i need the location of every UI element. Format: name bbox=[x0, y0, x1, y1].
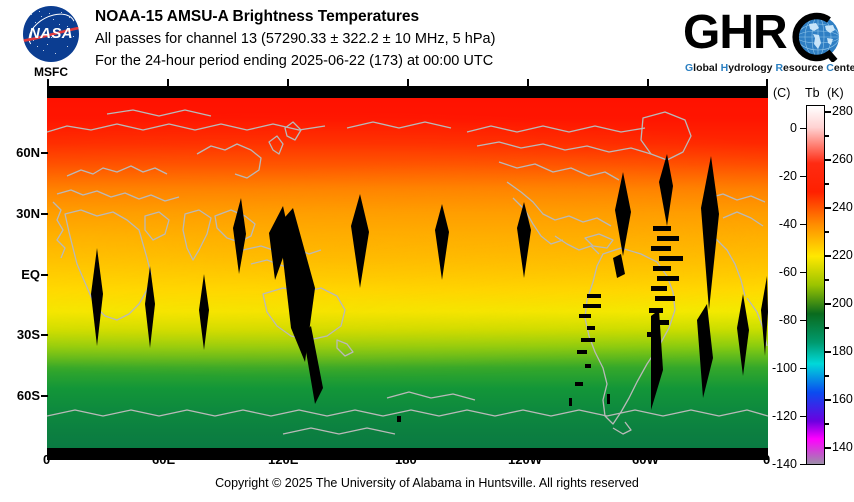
page-header: NASA MSFC NOAA-15 AMSU-A Brightness Temp… bbox=[0, 0, 854, 86]
colorbar-tick-c--20 bbox=[800, 176, 806, 178]
colorbar-label-c--20: -20 bbox=[779, 169, 797, 183]
colorbar-tick-c--80 bbox=[800, 320, 806, 322]
colorbar-minor-tick bbox=[825, 375, 829, 377]
colorbar-gradient[interactable] bbox=[806, 105, 825, 465]
colorbar-minor-tick bbox=[825, 327, 829, 329]
lon-label-180: 180 bbox=[395, 452, 417, 467]
lon-label-0: 0 bbox=[43, 452, 50, 467]
colorbar-label-c-0: 0 bbox=[790, 121, 797, 135]
colorbar-tick-c--140 bbox=[800, 464, 806, 466]
lon-tick-360 bbox=[766, 79, 768, 86]
lat-tick-eq bbox=[41, 274, 48, 276]
colorbar-label-tb: Tb bbox=[805, 86, 820, 100]
lat-label-30n: 30N bbox=[0, 206, 40, 221]
copyright-notice: Copyright © 2025 The University of Alaba… bbox=[0, 476, 854, 490]
map-data-layer bbox=[47, 98, 768, 448]
lon-label-120e: 120E bbox=[268, 452, 298, 467]
colorbar-minor-tick bbox=[825, 231, 829, 233]
colorbar-tick-k-280 bbox=[825, 111, 831, 113]
colorbar-label-c--100: -100 bbox=[772, 361, 797, 375]
colorbar-tick-c--60 bbox=[800, 272, 806, 274]
lat-tick-60n bbox=[41, 152, 48, 154]
colorbar-label-k-160: 160 bbox=[832, 392, 853, 406]
colorbar-unit-celsius: (C) bbox=[773, 86, 790, 100]
nasa-wordmark: NASA bbox=[23, 26, 79, 41]
nasa-center-label: MSFC bbox=[12, 65, 90, 79]
nasa-meatball-icon: NASA MSFC bbox=[12, 4, 90, 84]
lon-tick-120e bbox=[287, 79, 289, 86]
colorbar-unit-kelvin: (K) bbox=[827, 86, 844, 100]
colorbar-label-k-180: 180 bbox=[832, 344, 853, 358]
colorbar-tick-k-200 bbox=[825, 303, 831, 305]
nasa-star bbox=[43, 50, 44, 51]
lon-tick-120w bbox=[527, 79, 529, 86]
lat-label-60s: 60S bbox=[0, 388, 40, 403]
colorbar-label-k-280: 280 bbox=[832, 104, 853, 118]
nasa-star bbox=[41, 16, 42, 17]
colorbar-label-k-140: 140 bbox=[832, 440, 853, 454]
lon-label-60w: 60W bbox=[632, 452, 659, 467]
lon-label-120w: 120W bbox=[508, 452, 542, 467]
lat-tick-30n bbox=[41, 213, 48, 215]
lat-tick-60s bbox=[41, 395, 48, 397]
colorbar-label-c--140: -140 bbox=[772, 457, 797, 471]
colorbar-label-k-240: 240 bbox=[832, 200, 853, 214]
colorbar-label-c--40: -40 bbox=[779, 217, 797, 231]
colorbar-tick-c--100 bbox=[800, 368, 806, 370]
lon-label-60e: 60E bbox=[152, 452, 175, 467]
ghrc-logo: GHR Global Hydrology Resource Center bbox=[683, 6, 851, 82]
colorbar-tick-k-240 bbox=[825, 207, 831, 209]
nasa-star bbox=[39, 11, 40, 12]
colorbar-label-k-260: 260 bbox=[832, 152, 853, 166]
colorbar-tick-k-220 bbox=[825, 255, 831, 257]
nasa-star bbox=[37, 46, 38, 47]
lon-tick-60w bbox=[647, 79, 649, 86]
colorbar-panel: (C) Tb (K) 2802602402202001801601400-20-… bbox=[770, 86, 854, 476]
colorbar-tick-k-180 bbox=[825, 351, 831, 353]
nasa-logo-circle: NASA bbox=[23, 6, 79, 62]
colorbar-minor-tick bbox=[825, 183, 829, 185]
nasa-star bbox=[49, 13, 50, 14]
colorbar-label-c--80: -80 bbox=[779, 313, 797, 327]
colorbar-tick-k-260 bbox=[825, 159, 831, 161]
colorbar-tick-k-140 bbox=[825, 447, 831, 449]
colorbar-minor-tick bbox=[825, 423, 829, 425]
colorbar-tick-c--40 bbox=[800, 224, 806, 226]
svg-text:GHR: GHR bbox=[683, 6, 787, 59]
lon-tick-0 bbox=[47, 79, 49, 86]
colorbar-tick-c-0 bbox=[800, 128, 806, 130]
nasa-star bbox=[47, 44, 48, 45]
nasa-star bbox=[67, 46, 68, 47]
lon-tick-180 bbox=[407, 79, 409, 86]
colorbar-minor-tick bbox=[825, 135, 829, 137]
colorbar-label-k-220: 220 bbox=[832, 248, 853, 262]
lon-tick-60e bbox=[167, 79, 169, 86]
lat-tick-30s bbox=[41, 334, 48, 336]
map-panel[interactable] bbox=[47, 86, 768, 460]
title-subline-period: For the 24-hour period ending 2025-06-22… bbox=[95, 50, 670, 72]
colorbar-label-c--60: -60 bbox=[779, 265, 797, 279]
colorbar-tick-c--120 bbox=[800, 416, 806, 418]
colorbar-label-c--120: -120 bbox=[772, 409, 797, 423]
nasa-star bbox=[31, 14, 32, 15]
colorbar-label-k-200: 200 bbox=[832, 296, 853, 310]
nasa-star bbox=[55, 53, 56, 54]
ghrc-subtitle: Global Hydrology Resource Center bbox=[685, 62, 854, 74]
colorbar-minor-tick bbox=[825, 279, 829, 281]
lat-label-30s: 30S bbox=[0, 327, 40, 342]
page-title: NOAA-15 AMSU-A Brightness Temperatures bbox=[95, 6, 670, 28]
title-block: NOAA-15 AMSU-A Brightness Temperatures A… bbox=[95, 6, 670, 72]
title-subline-channel: All passes for channel 13 (57290.33 ± 32… bbox=[95, 28, 670, 50]
lat-label-eq: EQ bbox=[0, 267, 40, 282]
colorbar-tick-k-160 bbox=[825, 399, 831, 401]
swath-gap-overlay bbox=[47, 98, 768, 448]
lat-label-60n: 60N bbox=[0, 145, 40, 160]
